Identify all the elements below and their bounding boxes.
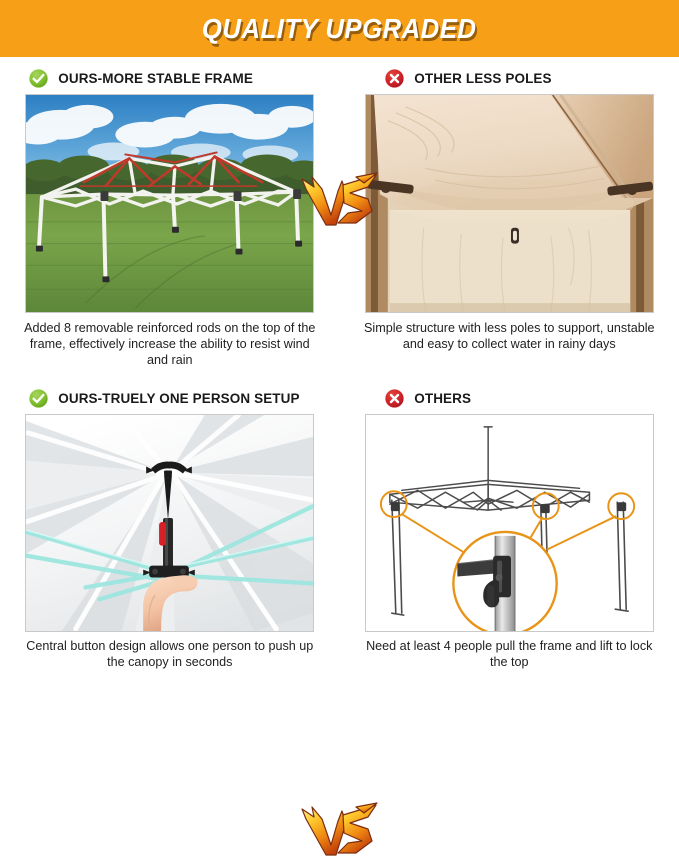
panel-title: OTHERS [414, 391, 471, 406]
photo-other-poles [365, 94, 654, 313]
check-circle-icon [28, 68, 49, 89]
panel-other-poles: OTHER LESS POLES [340, 57, 679, 368]
photo-others-setup [365, 414, 654, 632]
panel-others-setup: OTHERS [340, 372, 679, 670]
comparison-row-2: OURS-TRUELY ONE PERSON SETUP [0, 372, 679, 670]
panel-caption: Need at least 4 people pull the frame an… [359, 638, 659, 670]
check-circle-icon [28, 388, 49, 409]
panel-header: OTHER LESS POLES [364, 62, 654, 94]
panel-ours-frame: OURS-MORE STABLE FRAME [0, 57, 340, 368]
cross-circle-icon [384, 388, 405, 409]
vs-flame-badge [298, 797, 380, 863]
panel-ours-setup: OURS-TRUELY ONE PERSON SETUP [0, 372, 340, 670]
panel-header: OTHERS [364, 382, 654, 414]
panel-caption: Added 8 removable reinforced rods on the… [20, 320, 320, 368]
comparison-row-1: OURS-MORE STABLE FRAME [0, 57, 679, 368]
cross-circle-icon [384, 68, 405, 89]
panel-header: OURS-TRUELY ONE PERSON SETUP [28, 382, 311, 414]
panel-caption: Simple structure with less poles to supp… [359, 320, 659, 352]
photo-ours-setup [25, 414, 314, 632]
panel-header: OURS-MORE STABLE FRAME [28, 62, 311, 94]
page-title: QUALITY UPGRADED [202, 13, 477, 45]
comparison-grid: OURS-MORE STABLE FRAME [0, 57, 679, 671]
panel-title: OURS-TRUELY ONE PERSON SETUP [58, 391, 299, 406]
panel-caption: Central button design allows one person … [20, 638, 320, 670]
header-banner: QUALITY UPGRADED [0, 0, 679, 57]
panel-title: OTHER LESS POLES [414, 71, 551, 86]
panel-title: OURS-MORE STABLE FRAME [58, 71, 253, 86]
photo-ours-frame [25, 94, 314, 313]
